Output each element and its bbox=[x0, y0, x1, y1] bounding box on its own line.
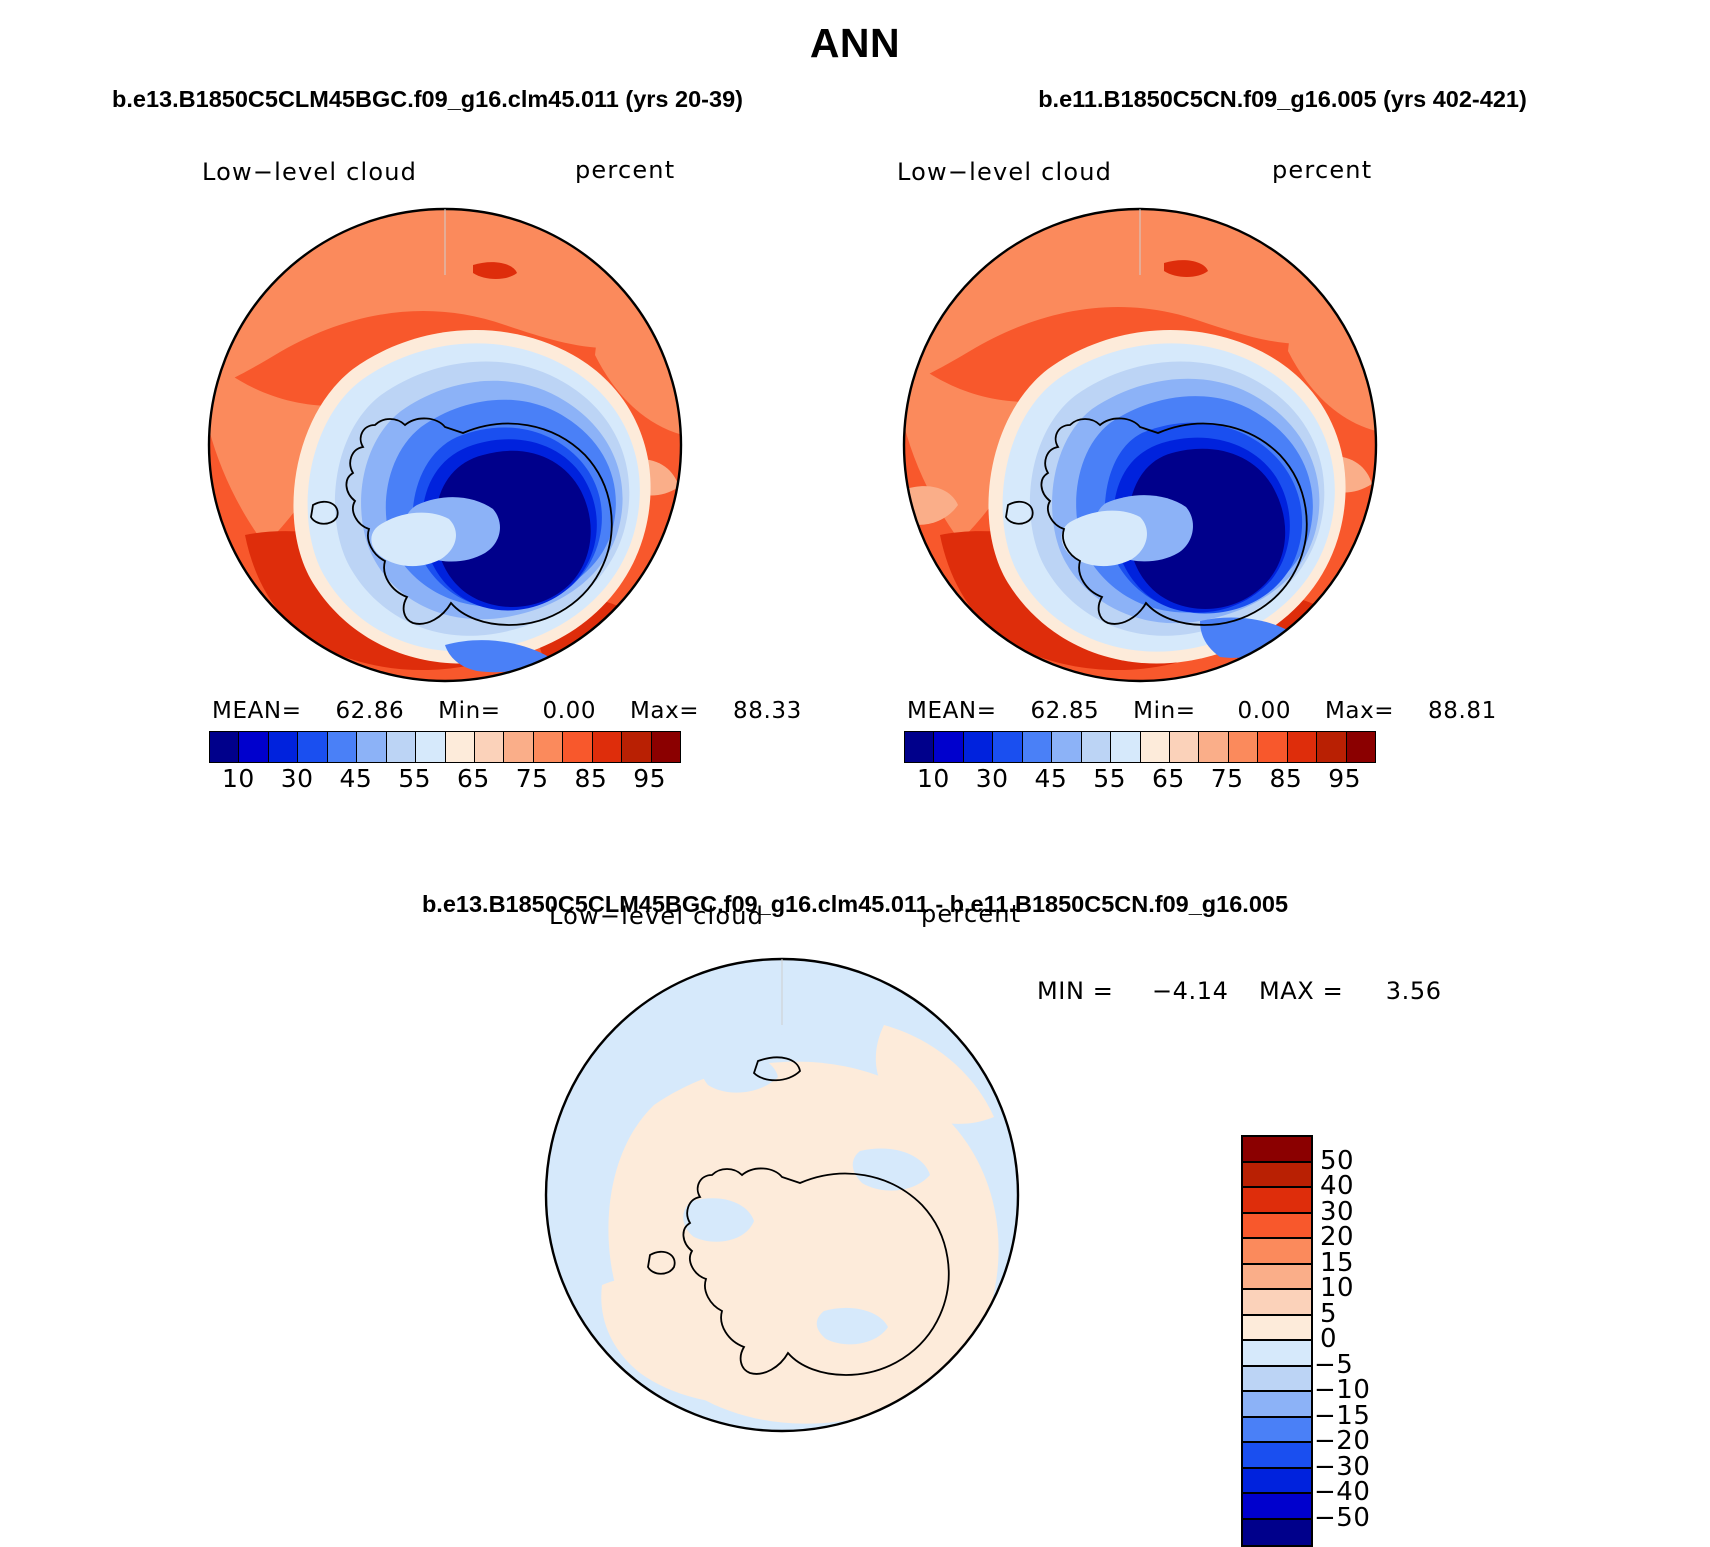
colorbar-tick-label: 30 bbox=[281, 764, 314, 793]
colorbar-tick-label: 75 bbox=[516, 764, 549, 793]
colorbar-cell bbox=[1288, 732, 1317, 762]
colorbar-tick-label: 10 bbox=[222, 764, 255, 793]
colorbar-left[interactable] bbox=[209, 731, 681, 763]
colorbar-cell bbox=[1243, 1290, 1311, 1316]
colorbar-tick-label: 55 bbox=[398, 764, 431, 793]
max-label-diff: MAX = bbox=[1259, 977, 1343, 1005]
max-value-diff: 3.56 bbox=[1386, 977, 1442, 1005]
colorbar-difference[interactable] bbox=[1241, 1135, 1313, 1547]
colorbar-cell bbox=[1243, 1188, 1311, 1214]
colorbar-cell bbox=[622, 732, 651, 762]
colorbar-cell bbox=[964, 732, 993, 762]
min-label-right: Min= bbox=[1133, 698, 1195, 724]
colorbar-cell bbox=[1243, 1443, 1311, 1469]
units-label-left: percent bbox=[575, 156, 675, 184]
colorbar-cell bbox=[1243, 1418, 1311, 1444]
colorbar-cell bbox=[1243, 1163, 1311, 1189]
colorbar-tick-label: −50 bbox=[1314, 1503, 1370, 1533]
colorbar-cell bbox=[1243, 1520, 1311, 1546]
colorbar-tick-label: 85 bbox=[1269, 764, 1302, 793]
colorbar-cell bbox=[993, 732, 1022, 762]
colorbar-cell bbox=[652, 732, 680, 762]
colorbar-cell bbox=[534, 732, 563, 762]
colorbar-cell bbox=[446, 732, 475, 762]
stats-right: MEAN= 62.85 Min= 0.00 Max= 88.81 bbox=[907, 698, 1497, 724]
colorbar-cell bbox=[1243, 1494, 1311, 1520]
colorbar-cell bbox=[328, 732, 357, 762]
variable-label-diff: Low−level cloud bbox=[549, 902, 764, 930]
max-label-left: Max= bbox=[630, 698, 699, 724]
colorbar-tick-label: 75 bbox=[1211, 764, 1244, 793]
colorbar-cell bbox=[1317, 732, 1346, 762]
colorbar-cell bbox=[387, 732, 416, 762]
colorbar-cell bbox=[1082, 732, 1111, 762]
colorbar-cell bbox=[1243, 1265, 1311, 1291]
colorbar-tick-label: 65 bbox=[457, 764, 490, 793]
polar-map-right-svg bbox=[900, 205, 1380, 685]
page-title: ANN bbox=[0, 20, 1710, 67]
colorbar-cell bbox=[357, 732, 386, 762]
colorbar-cell bbox=[1229, 732, 1258, 762]
colorbar-cell bbox=[298, 732, 327, 762]
colorbar-cell bbox=[1243, 1316, 1311, 1342]
colorbar-cell bbox=[1243, 1367, 1311, 1393]
colorbar-cell bbox=[239, 732, 268, 762]
colorbar-tick-label: 85 bbox=[574, 764, 607, 793]
colorbar-tick-label: 45 bbox=[339, 764, 372, 793]
colorbar-cell bbox=[1243, 1137, 1311, 1163]
colorbar-cell bbox=[563, 732, 592, 762]
colorbar-cell bbox=[1052, 732, 1081, 762]
colorbar-ticks-right: 1030455565758595 bbox=[904, 762, 1374, 792]
colorbar-right[interactable] bbox=[904, 731, 1376, 763]
colorbar-tick-label: 30 bbox=[976, 764, 1009, 793]
colorbar-cell bbox=[1243, 1392, 1311, 1418]
case-title-left: b.e13.B1850C5CLM45BGC.f09_g16.clm45.011 … bbox=[0, 86, 855, 113]
colorbar-cell bbox=[210, 732, 239, 762]
colorbar-cell bbox=[593, 732, 622, 762]
colorbar-tick-label: 65 bbox=[1152, 764, 1185, 793]
variable-label-right: Low−level cloud bbox=[897, 158, 1112, 186]
colorbar-cell bbox=[1111, 732, 1140, 762]
colorbar-ticks-left: 1030455565758595 bbox=[209, 762, 679, 792]
colorbar-cell bbox=[504, 732, 533, 762]
polar-map-left bbox=[205, 205, 685, 685]
polar-map-right bbox=[900, 205, 1380, 685]
stats-diff: MIN = −4.14 MAX = 3.56 bbox=[1037, 977, 1442, 1005]
colorbar-tick-label: 45 bbox=[1034, 764, 1067, 793]
colorbar-cell bbox=[934, 732, 963, 762]
colorbar-tick-label: 95 bbox=[633, 764, 666, 793]
units-label-diff: percent bbox=[921, 900, 1021, 928]
colorbar-cell bbox=[905, 732, 934, 762]
max-label-right: Max= bbox=[1325, 698, 1394, 724]
min-label-left: Min= bbox=[438, 698, 500, 724]
stats-left: MEAN= 62.86 Min= 0.00 Max= 88.33 bbox=[212, 698, 802, 724]
colorbar-tick-label: 55 bbox=[1093, 764, 1126, 793]
case-title-right: b.e11.B1850C5CN.f09_g16.005 (yrs 402-421… bbox=[855, 86, 1710, 113]
map-fill-right bbox=[900, 205, 1380, 685]
min-value-diff: −4.14 bbox=[1152, 977, 1229, 1005]
min-value-right: 0.00 bbox=[1237, 698, 1291, 724]
min-label-diff: MIN = bbox=[1037, 977, 1113, 1005]
colorbar-cell bbox=[1243, 1469, 1311, 1495]
min-value-left: 0.00 bbox=[542, 698, 596, 724]
mean-value-right: 62.85 bbox=[1030, 698, 1099, 724]
units-label-right: percent bbox=[1272, 156, 1372, 184]
colorbar-cell bbox=[1258, 732, 1287, 762]
colorbar-tick-label: 95 bbox=[1328, 764, 1361, 793]
colorbar-cell bbox=[1199, 732, 1228, 762]
variable-label-left: Low−level cloud bbox=[202, 158, 417, 186]
mean-value-left: 62.86 bbox=[335, 698, 404, 724]
colorbar-cell bbox=[1347, 732, 1375, 762]
map-fill-left bbox=[205, 205, 685, 685]
colorbar-cell bbox=[1243, 1341, 1311, 1367]
polar-map-diff bbox=[542, 955, 1022, 1435]
colorbar-cell bbox=[416, 732, 445, 762]
mean-label-right: MEAN= bbox=[907, 698, 997, 724]
colorbar-cell bbox=[1141, 732, 1170, 762]
difference-title: b.e13.B1850C5CLM45BGC.f09_g16.clm45.011 … bbox=[0, 891, 1710, 918]
colorbar-cell bbox=[1023, 732, 1052, 762]
max-value-left: 88.33 bbox=[733, 698, 802, 724]
polar-map-diff-svg bbox=[542, 955, 1022, 1435]
map-fill-diff bbox=[542, 955, 1022, 1435]
colorbar-cell bbox=[1243, 1239, 1311, 1265]
colorbar-cell bbox=[1170, 732, 1199, 762]
colorbar-tick-label: 10 bbox=[917, 764, 950, 793]
mean-label-left: MEAN= bbox=[212, 698, 302, 724]
colorbar-cell bbox=[269, 732, 298, 762]
polar-map-left-svg bbox=[205, 205, 685, 685]
colorbar-cell bbox=[475, 732, 504, 762]
max-value-right: 88.81 bbox=[1428, 698, 1497, 724]
colorbar-cell bbox=[1243, 1214, 1311, 1240]
